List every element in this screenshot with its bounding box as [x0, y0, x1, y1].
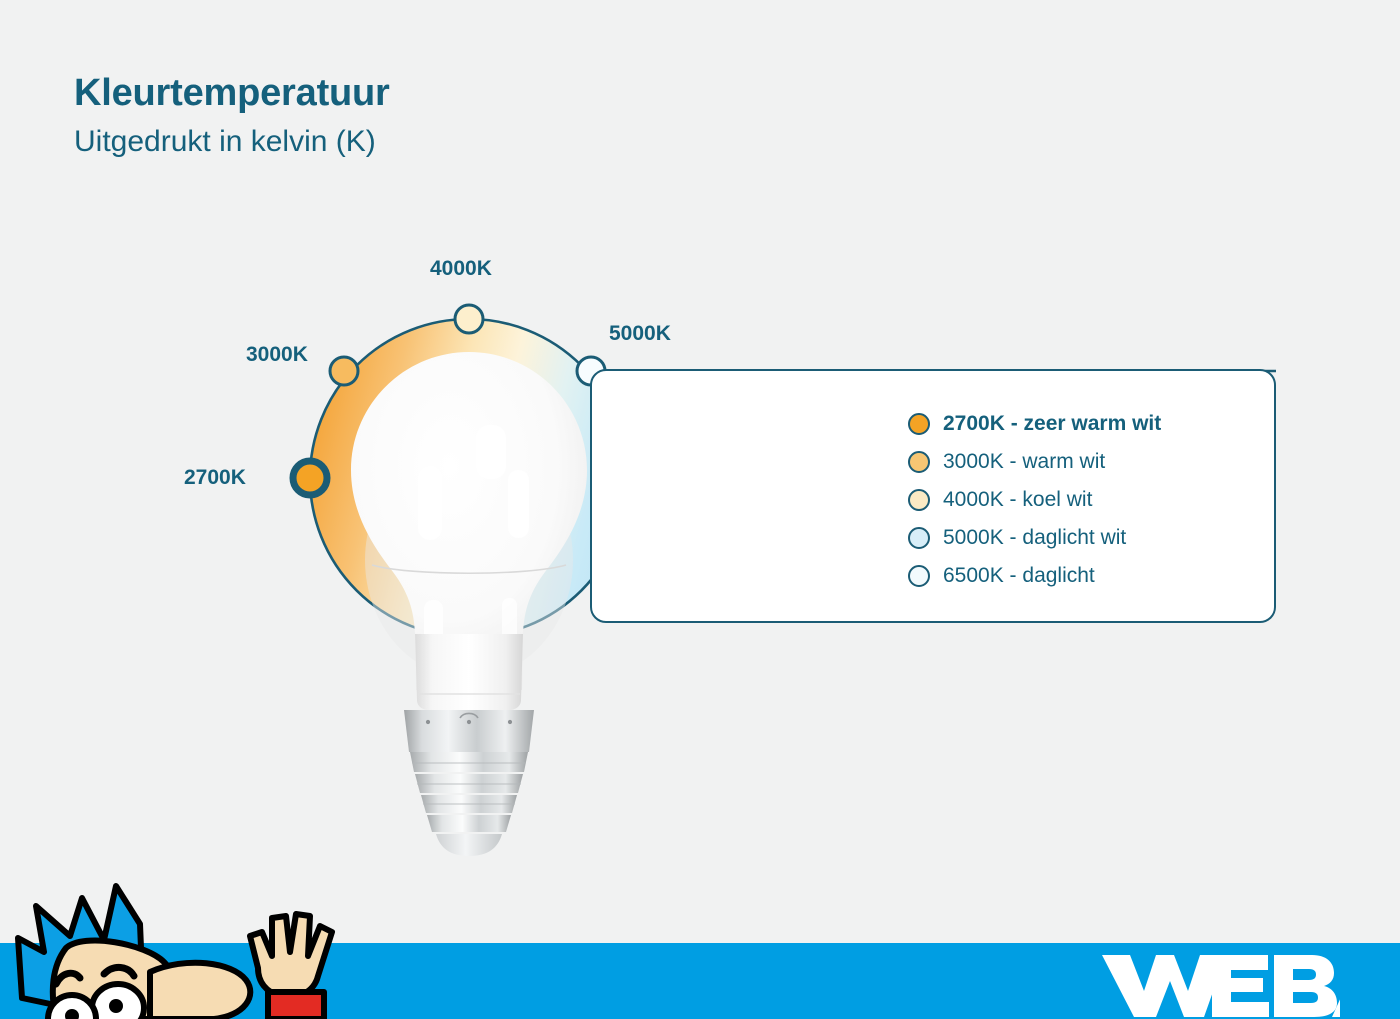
arc-label-2700K: 2700K: [184, 466, 246, 490]
color-temperature-diagram: 2700K 3000K 4000K 5000K 6500K 2700K - ze…: [0, 0, 1400, 943]
legend-item-3000K[interactable]: 3000K - warm wit: [908, 443, 1161, 481]
legend-swatch-4000K: [908, 489, 930, 511]
legend-item-5000K[interactable]: 5000K - daglicht wit: [908, 519, 1161, 557]
legend-swatch-5000K: [908, 527, 930, 549]
infographic-canvas: Kleurtemperatuur Uitgedrukt in kelvin (K…: [0, 0, 1400, 1019]
arc-node-2700K[interactable]: [293, 461, 327, 495]
legend-swatch-6500K: [908, 565, 930, 587]
light-bulb: [351, 352, 587, 856]
arc-label-5000K: 5000K: [609, 322, 671, 346]
legend-label-5000K: 5000K - daglicht wit: [943, 526, 1126, 550]
legend-label-6500K: 6500K - daglicht: [943, 564, 1095, 588]
weba-mascot: [0, 880, 400, 1019]
legend-label-3000K: 3000K - warm wit: [943, 450, 1105, 474]
arc-label-4000K: 4000K: [430, 257, 492, 281]
legend-swatch-3000K: [908, 451, 930, 473]
legend-item-4000K[interactable]: 4000K - koel wit: [908, 481, 1161, 519]
legend-label-2700K: 2700K - zeer warm wit: [943, 412, 1161, 436]
weba-logo: [1100, 951, 1340, 1019]
arc-node-3000K[interactable]: [330, 357, 358, 385]
legend-swatch-2700K: [908, 413, 930, 435]
legend-item-2700K[interactable]: 2700K - zeer warm wit: [908, 405, 1161, 443]
legend-label-4000K: 4000K - koel wit: [943, 488, 1092, 512]
arc-node-4000K[interactable]: [455, 305, 483, 333]
arc-label-3000K: 3000K: [246, 343, 308, 367]
legend-panel: 2700K - zeer warm wit 3000K - warm wit 4…: [590, 369, 1276, 623]
legend-list: 2700K - zeer warm wit 3000K - warm wit 4…: [908, 405, 1161, 595]
legend-item-6500K[interactable]: 6500K - daglicht: [908, 557, 1161, 595]
